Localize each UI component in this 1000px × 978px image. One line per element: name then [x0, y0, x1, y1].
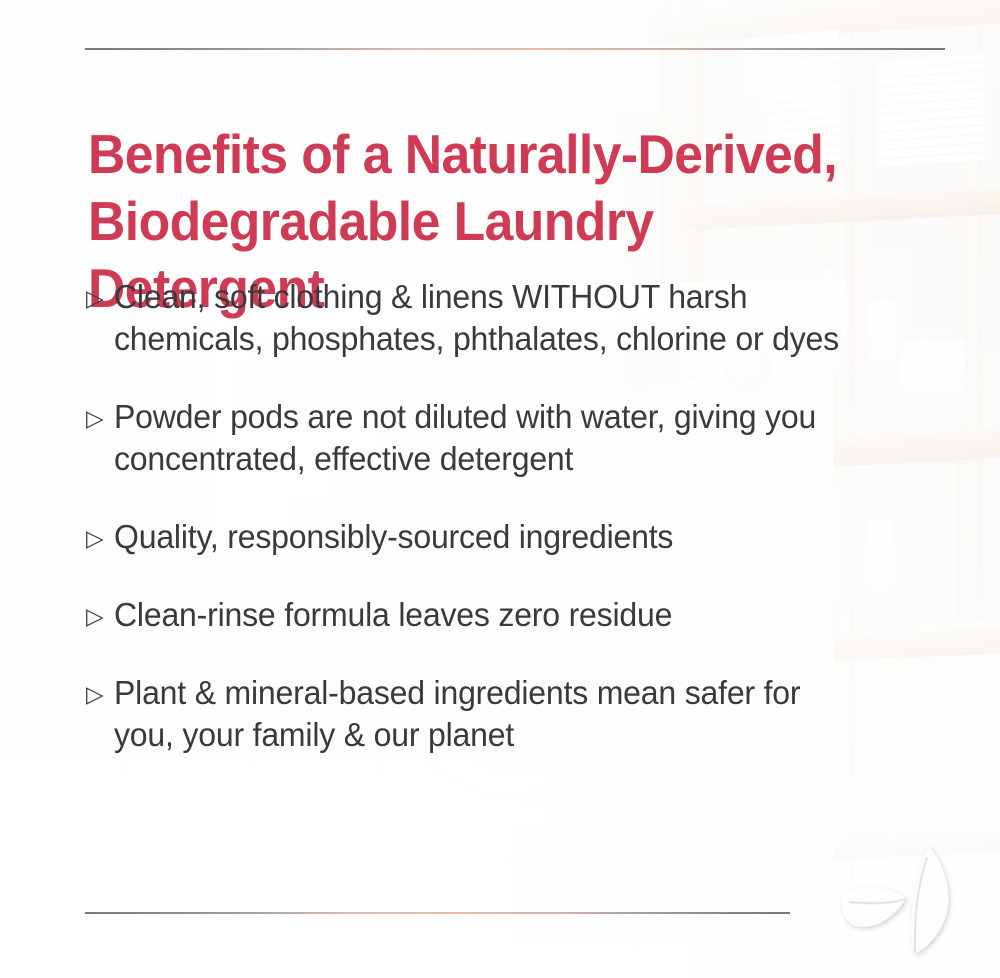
list-item: ▷ Clean-rinse formula leaves zero residu…	[86, 594, 876, 636]
list-item: ▷ Plant & mineral-based ingredients mean…	[86, 672, 876, 756]
triangle-bullet-icon: ▷	[86, 673, 114, 715]
triangle-bullet-icon: ▷	[86, 397, 114, 439]
triangle-bullet-icon: ▷	[86, 277, 114, 319]
list-item: ▷ Quality, responsibly-sourced ingredien…	[86, 516, 876, 558]
list-item-label: Clean-rinse formula leaves zero residue	[114, 594, 853, 636]
top-divider	[85, 48, 945, 50]
benefits-infographic: Benefits of a Naturally-Derived, Biodegr…	[0, 0, 1000, 978]
list-item: ▷ Powder pods are not diluted with water…	[86, 396, 876, 480]
benefits-list: ▷ Clean, soft clothing & linens WITHOUT …	[86, 276, 876, 756]
list-item-label: Powder pods are not diluted with water, …	[114, 396, 853, 480]
list-item-label: Quality, responsibly-sourced ingredients	[114, 516, 853, 558]
bottom-divider	[85, 912, 790, 914]
leaf-logo-icon	[832, 842, 982, 960]
content-layer: Benefits of a Naturally-Derived, Biodegr…	[0, 0, 1000, 978]
list-item-label: Clean, soft clothing & linens WITHOUT ha…	[114, 276, 853, 360]
list-item-label: Plant & mineral-based ingredients mean s…	[114, 672, 853, 756]
triangle-bullet-icon: ▷	[86, 517, 114, 559]
triangle-bullet-icon: ▷	[86, 595, 114, 637]
list-item: ▷ Clean, soft clothing & linens WITHOUT …	[86, 276, 876, 360]
